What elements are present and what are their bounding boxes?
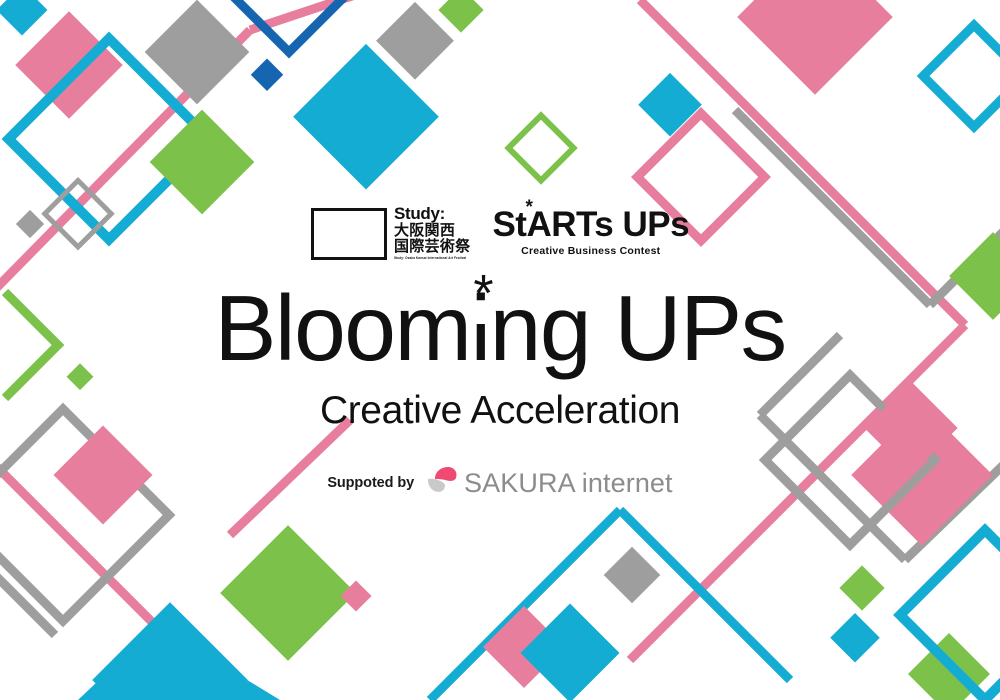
study-logo-box — [311, 208, 387, 260]
sponsor-row: Suppoted by SAKURA internet — [327, 467, 672, 499]
starts-ups-wordmark: * StARTs UPs — [492, 207, 689, 242]
starts-ups-logo: * StARTs UPs Creative Business Contest — [492, 207, 689, 257]
poster-content: Study: 大阪関西 国際芸術祭 Study: Osaka Kansai In… — [0, 0, 1000, 700]
study-logo-text: Study: 大阪関西 国際芸術祭 Study: Osaka Kansai In… — [394, 205, 471, 260]
sponsor-label: Suppoted by — [327, 475, 414, 491]
study-logo-japanese-line2: 国際芸術祭 — [394, 239, 471, 255]
sakura-internet-wordmark: SAKURA internet — [464, 470, 673, 497]
poster-canvas: Study: 大阪関西 国際芸術祭 Study: Osaka Kansai In… — [0, 0, 1000, 700]
starts-ups-asterisk-icon: * — [525, 198, 532, 217]
title-asterisk-icon: * — [473, 268, 493, 320]
logo-row: Study: 大阪関西 国際芸術祭 Study: Osaka Kansai In… — [311, 205, 689, 260]
title-block: Blooming UPs * — [214, 282, 785, 375]
starts-ups-wordmark-text: StARTs UPs — [492, 205, 689, 244]
page-title: Blooming UPs — [214, 282, 785, 375]
sakura-internet-logo: SAKURA internet — [427, 467, 673, 499]
sakura-petal-mark-icon — [427, 467, 460, 499]
study-logo-english: Study: — [394, 205, 471, 222]
study-logo-japanese-line1: 大阪関西 — [394, 223, 471, 239]
study-osaka-kansai-logo: Study: 大阪関西 国際芸術祭 Study: Osaka Kansai In… — [311, 205, 471, 260]
page-subtitle: Creative Acceleration — [320, 389, 680, 433]
starts-ups-tagline: Creative Business Contest — [521, 245, 660, 257]
study-logo-tiny-caption: Study: Osaka Kansai International Art Fe… — [394, 257, 471, 260]
